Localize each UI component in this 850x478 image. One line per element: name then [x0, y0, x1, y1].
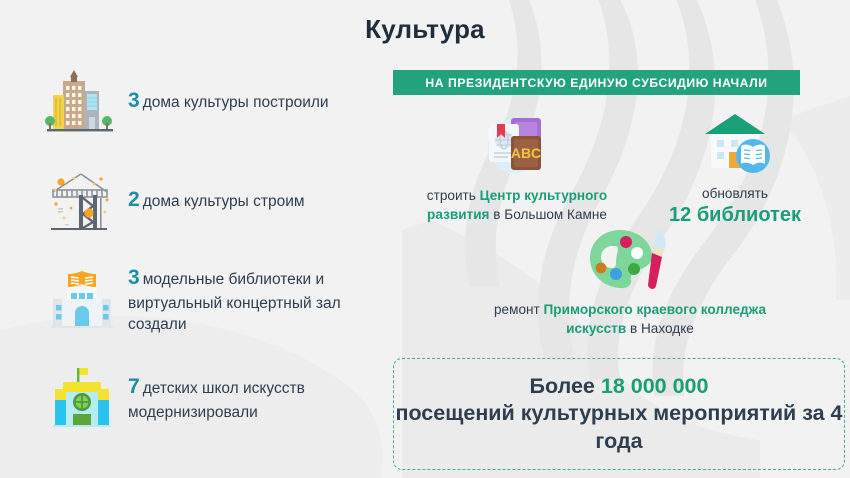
subsidy-lead: строить — [427, 188, 480, 203]
visits-highlight: 18 000 000 — [601, 374, 709, 398]
stat-number: 3 — [128, 266, 140, 289]
page-title: Культура — [0, 14, 850, 45]
subsidy-lead: ремонт — [494, 302, 544, 317]
stat-label: детских школ искусств модернизировали — [128, 380, 305, 421]
construction-crane-icon — [36, 164, 128, 238]
stat-row: 7детских школ искусств модернизировали — [36, 349, 396, 448]
subsidy-caption: ремонт Приморского краевого колледжа иск… — [490, 300, 770, 338]
stat-label: дома культуры строим — [143, 193, 305, 210]
stat-text: 3модельные библиотеки и виртуальный конц… — [128, 264, 396, 336]
subsidy-banner-label: НА ПРЕЗИДЕНТСКУЮ ЕДИНУЮ СУБСИДИЮ НАЧАЛИ — [425, 76, 767, 90]
stat-label: дома культуры построили — [143, 94, 329, 111]
subsidy-caption-lead: обновлять — [645, 185, 825, 203]
stat-row: 3модельные библиотеки и виртуальный конц… — [36, 250, 396, 349]
stat-row: 2дома культуры строим — [36, 151, 396, 250]
library-house-book-icon — [645, 108, 825, 180]
city-buildings-icon — [36, 65, 128, 139]
stat-text: 3дома культуры построили — [128, 87, 329, 116]
stat-label: модельные библиотеки и виртуальный конце… — [128, 271, 341, 333]
subsidy-caption: строить Центр культурного развития в Бол… — [398, 186, 636, 224]
subsidy-banner: НА ПРЕЗИДЕНТСКУЮ ЕДИНУЮ СУБСИДИЮ НАЧАЛИ — [393, 70, 800, 95]
books-abc-icon: ABC — [398, 108, 636, 180]
visits-summary-box: Более 18 000 000 посещений культурных ме… — [393, 358, 845, 470]
subsidy-tail: в Большом Камне — [490, 207, 607, 222]
stat-text: 7детских школ искусств модернизировали — [128, 373, 396, 423]
paint-palette-brush-icon — [490, 224, 770, 294]
visits-tail: посещений культурных мероприятий за 4 го… — [395, 401, 842, 453]
library-building-icon — [36, 263, 128, 337]
subsidy-item-culture-center: ABC строить Центр культурного развития в… — [398, 108, 636, 224]
subsidy-item-art-college: ремонт Приморского краевого колледжа иск… — [490, 224, 770, 338]
stat-row: 3дома культуры построили — [36, 52, 396, 151]
stat-number: 7 — [128, 375, 140, 398]
stat-text: 2дома культуры строим — [128, 186, 305, 215]
stat-number: 3 — [128, 89, 140, 112]
subsidy-tail: в Находке — [626, 321, 694, 336]
art-school-icon — [36, 362, 128, 436]
subsidy-item-libraries: обновлять 12 библиотек — [645, 108, 825, 227]
infographic-page: Культура — [0, 0, 850, 478]
visits-summary-text: Более 18 000 000 посещений культурных ме… — [394, 373, 844, 456]
svg-text:ABC: ABC — [511, 145, 541, 161]
visits-lead: Более — [530, 374, 601, 398]
left-stats-column: 3дома культуры построили — [36, 52, 396, 448]
stat-number: 2 — [128, 188, 140, 211]
